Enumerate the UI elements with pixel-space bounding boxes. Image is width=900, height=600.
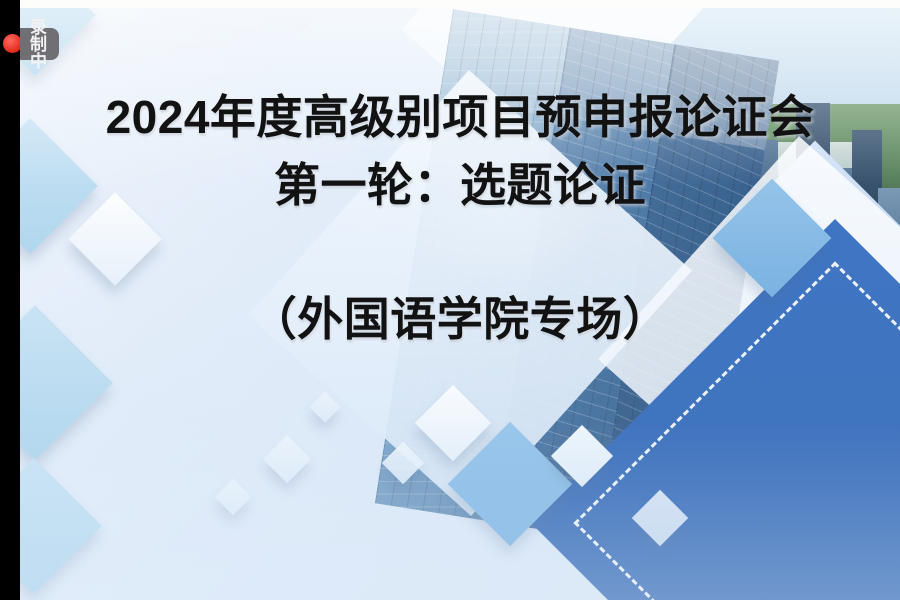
- window-top-bar: [20, 0, 900, 8]
- diamond-shape: [20, 305, 113, 461]
- diamond-shape: [20, 458, 102, 594]
- diamond-shape: [215, 479, 252, 516]
- presentation-slide: 2024年度高级别项目预申报论证会 第一轮：选题论证 （外国语学院专场）: [20, 8, 900, 600]
- screen-share-viewport: 2024年度高级别项目预申报论证会 第一轮：选题论证 （外国语学院专场） 录制中: [0, 0, 900, 600]
- recording-badge[interactable]: 录制中: [20, 28, 59, 60]
- diamond-shape: [68, 192, 161, 285]
- window-left-bar: [0, 0, 20, 600]
- diamond-shape: [309, 391, 340, 422]
- recording-label: 录制中: [30, 19, 47, 70]
- diamond-shape: [263, 435, 311, 483]
